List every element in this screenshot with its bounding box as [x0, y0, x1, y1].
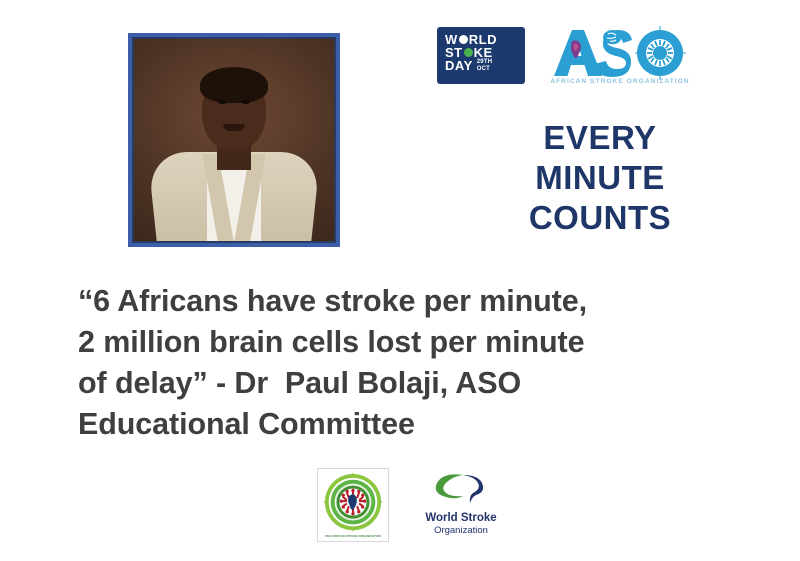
headline-line-3: COUNTS	[448, 198, 752, 238]
wsd-letters-ke: KE	[474, 46, 493, 59]
wsd-line-day: DAY 29TH OCT	[445, 59, 518, 72]
quote-text: “6 Africans have stroke per minute, 2 mi…	[78, 281, 778, 445]
speaker-portrait-photo	[134, 39, 334, 241]
speaker-portrait-frame	[128, 33, 340, 247]
world-stroke-organization-logo: World Stroke Organization	[415, 472, 507, 534]
paso-caption: PAN AFRICAN STROKE ORGANISATION	[320, 535, 386, 538]
portrait-hair	[200, 67, 268, 103]
headline-line-2: MINUTE	[448, 158, 752, 198]
wsd-date-block: 29TH OCT	[477, 59, 492, 72]
pan-african-stroke-organisation-logo: PAN AFRICAN STROKE ORGANISATION	[317, 468, 389, 542]
wso-name: World Stroke	[415, 512, 507, 525]
portrait-mouth	[223, 124, 245, 131]
page-title: EVERY MINUTE COUNTS	[448, 118, 752, 238]
wsd-letters-day: DAY	[445, 59, 473, 72]
paso-rings-icon	[320, 471, 386, 539]
portrait-eye-right	[241, 100, 250, 104]
aso-logo-icon	[550, 26, 690, 80]
paso-emblem-icon: PAN AFRICAN STROKE ORGANISATION	[320, 471, 386, 539]
wsd-date-month: OCT	[477, 66, 492, 73]
wso-subtitle: Organization	[415, 525, 507, 536]
world-stroke-day-logo: W RLD ST KE DAY 29TH OCT	[437, 27, 525, 84]
wsd-green-dot-icon	[464, 48, 473, 57]
headline-line-1: EVERY	[448, 118, 752, 158]
portrait-eye-left	[218, 100, 227, 104]
wsd-white-dot-icon	[459, 35, 468, 44]
wsd-date-day: 29TH	[477, 59, 492, 66]
african-stroke-organization-logo: AFRICAN STROKE ORGANIZATION	[550, 26, 690, 98]
footer-logo-row: PAN AFRICAN STROKE ORGANISATION World St…	[305, 468, 510, 548]
wso-swoosh-icon	[433, 472, 489, 506]
aso-letterforms	[550, 26, 690, 80]
